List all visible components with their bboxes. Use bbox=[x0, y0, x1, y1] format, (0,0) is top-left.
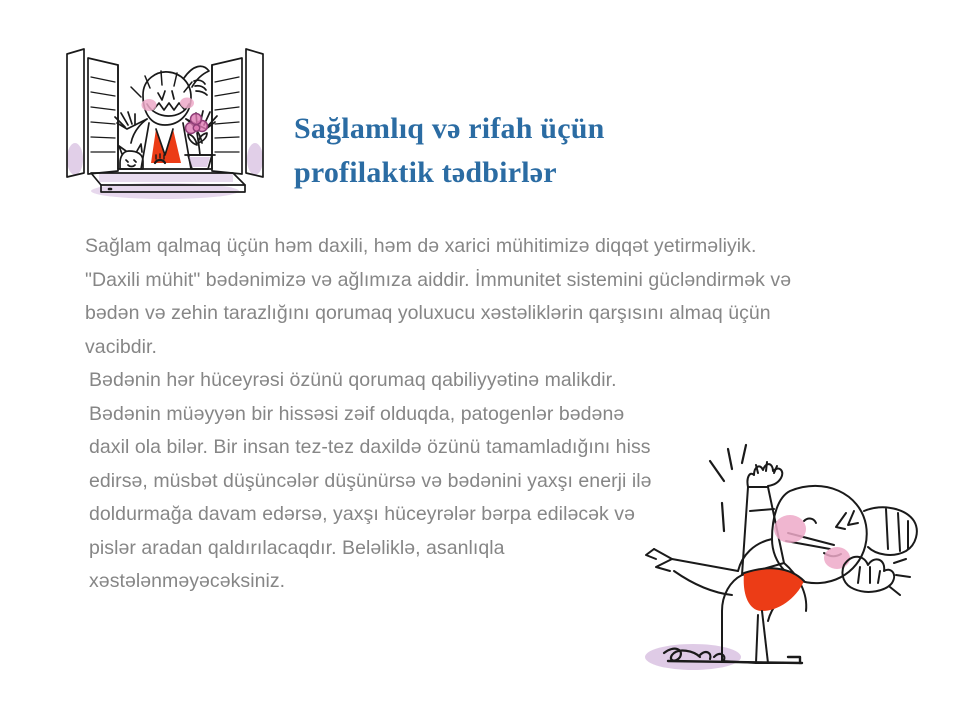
page-title: Sağlamlıq və rifah üçün profilaktik tədb… bbox=[294, 107, 714, 195]
body-paragraph-2: Bədənin hər hüceyrəsi özünü qorumaq qabi… bbox=[89, 364, 659, 599]
slide-canvas: Sağlamlıq və rifah üçün profilaktik tədb… bbox=[0, 0, 960, 720]
body-paragraph-1: Sağlam qalmaq üçün həm daxili, həm də xa… bbox=[85, 230, 815, 364]
child-sneezing-illustration bbox=[638, 425, 938, 685]
child-at-open-window-illustration bbox=[55, 33, 275, 205]
